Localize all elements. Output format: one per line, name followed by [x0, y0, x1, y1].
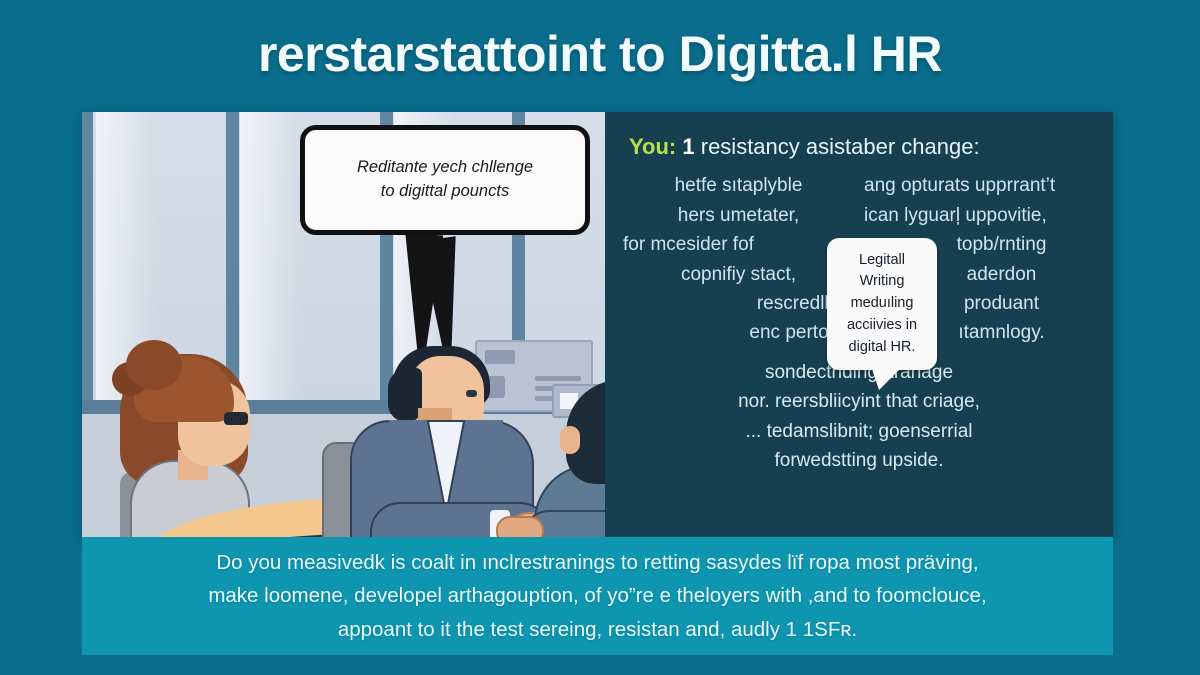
woman-glasses [224, 412, 248, 425]
heading-number: 1 [682, 134, 694, 159]
text-panel: You: 1 resistancy asistaber change: hetf… [605, 112, 1113, 537]
text-line: ... tedamslibnit; goenserrial [623, 417, 1095, 446]
panel-heading: You: 1 resistancy asistaber change: [623, 134, 1095, 159]
page-title: rerstarstattoint to Digitta.l HR [258, 25, 942, 83]
text-line: hetfe sıtaplyble [623, 171, 854, 200]
mini-bubble-line: Writing [860, 271, 905, 293]
text-line: copnifiy stact, [623, 260, 854, 289]
title-bar: rerstarstattoint to Digitta.l HR [0, 18, 1200, 90]
closing-text-block: sondectriding aranage nor. reersbliicyin… [623, 358, 1095, 476]
speech-bubble: Reditante yech chllenge to digittal poun… [300, 125, 590, 235]
content-card: Reditante yech chllenge to digittal poun… [82, 112, 1113, 537]
speaker-label: You: [629, 134, 676, 159]
mini-bubble-tail [871, 366, 903, 390]
window-pane-sheen [240, 112, 300, 412]
text-line: ican lyguarļ uppovitie, [864, 201, 1095, 230]
text-column-left: hetfe sıtaplyble hers umetater, for mces… [623, 171, 854, 348]
screen-block [485, 350, 515, 364]
mini-bubble-line: Legitall [859, 250, 905, 272]
meeting-illustration: Reditante yech chllenge to digittal poun… [82, 112, 605, 537]
text-line: ang opturats upprrant’t [864, 171, 1095, 200]
back-person-hand [496, 516, 544, 537]
speech-bubble-line: to digittal pouncts [381, 180, 509, 204]
text-line: for mcesider fof [623, 230, 854, 259]
caption-band: Do you measivedk is coalt in ınclrestran… [82, 537, 1113, 655]
caption-line: make loomene, developel arthagouption, o… [208, 579, 986, 612]
heading-text: resistancy asistaber change: [701, 134, 980, 159]
mini-bubble-line: meduıling [851, 293, 914, 315]
caption-line: appoant to it the test sereing, resistan… [338, 613, 857, 646]
screen-line [535, 376, 581, 381]
mini-speech-bubble: Legitall Writing meduıling acciivies in … [827, 238, 937, 370]
mini-bubble-line: digital HR. [849, 337, 916, 359]
text-line: hers umetater, [623, 201, 854, 230]
caption-line: Do you measivedk is coalt in ınclrestran… [216, 546, 978, 579]
text-line: enc pertons. [623, 318, 854, 347]
woman-hair-bun [126, 340, 182, 390]
mini-bubble-line: acciivies in [847, 315, 917, 337]
text-line: forwedstting upside. [623, 446, 1095, 475]
text-line: nor. reersbliicyint that criage, [623, 387, 1095, 416]
man-eye [466, 390, 477, 397]
man-hair-side [388, 368, 422, 422]
back-person-ear [560, 426, 580, 454]
speech-bubble-line: Reditante yech chllenge [357, 156, 533, 180]
window-mullion [82, 112, 93, 412]
text-line: rescredlling [623, 289, 854, 318]
window-mullion [226, 112, 239, 412]
